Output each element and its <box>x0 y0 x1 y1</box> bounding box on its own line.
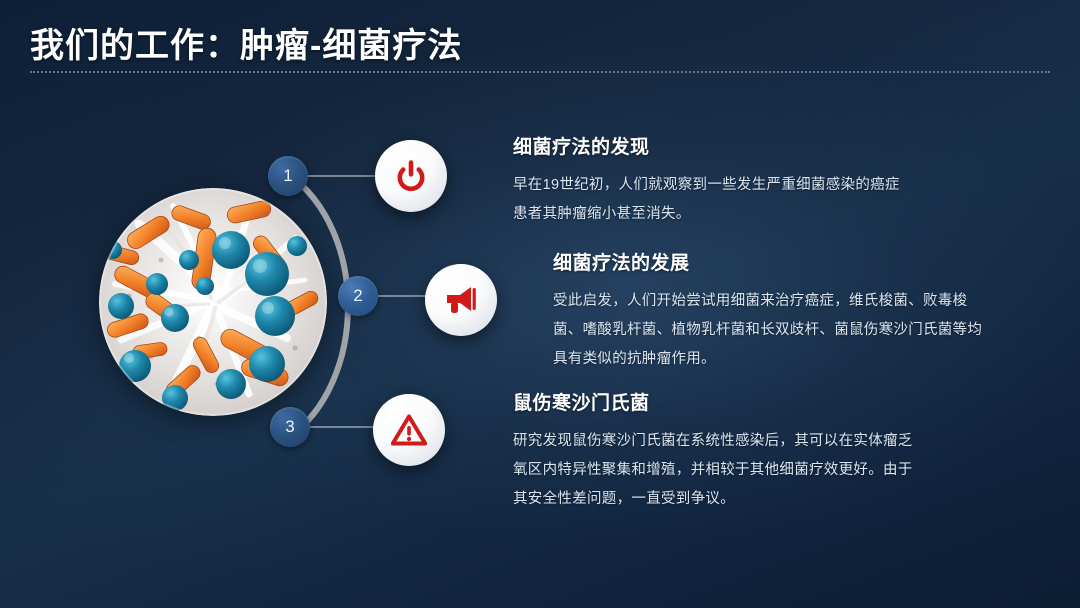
step-badge-3[interactable]: 3 <box>270 407 310 447</box>
block-heading-1: 细菌疗法的发现 <box>513 132 913 159</box>
content-block-2: 细菌疗法的发展 受此启发，人们开始尝试用细菌来治疗癌症，维氏梭菌、败毒梭菌、嗜酸… <box>553 248 983 374</box>
bacteria-micrograph-image <box>99 188 327 416</box>
content-block-3: 鼠伤寒沙门氏菌 研究发现鼠伤寒沙门氏菌在系统性感染后，其可以在实体瘤乏氧区内特异… <box>513 388 913 514</box>
block-heading-2: 细菌疗法的发展 <box>553 248 983 275</box>
page-title: 我们的工作：肿瘤-细菌疗法 <box>30 18 462 67</box>
icon-button-power[interactable] <box>375 140 447 212</box>
block-body-3: 研究发现鼠伤寒沙门氏菌在系统性感染后，其可以在实体瘤乏氧区内特异性聚集和增殖，并… <box>513 427 913 514</box>
step-badge-2[interactable]: 2 <box>338 276 378 316</box>
power-icon <box>394 159 428 193</box>
block-body-1: 早在19世纪初，人们就观察到一些发生严重细菌感染的癌症患者其肿瘤缩小甚至消失。 <box>513 171 913 229</box>
icon-button-warning[interactable] <box>373 394 445 466</box>
block-body-2: 受此启发，人们开始尝试用细菌来治疗癌症，维氏梭菌、败毒梭菌、嗜酸乳杆菌、植物乳杆… <box>553 287 983 374</box>
title-divider <box>30 71 1050 73</box>
slide-canvas: 我们的工作：肿瘤-细菌疗法 <box>0 0 1080 608</box>
content-block-1: 细菌疗法的发现 早在19世纪初，人们就观察到一些发生严重细菌感染的癌症患者其肿瘤… <box>513 132 913 229</box>
icon-button-megaphone[interactable] <box>425 264 497 336</box>
megaphone-icon <box>443 284 479 316</box>
block-heading-3: 鼠伤寒沙门氏菌 <box>513 388 913 415</box>
step-badge-1[interactable]: 1 <box>268 156 308 196</box>
warning-triangle-icon <box>391 414 427 446</box>
